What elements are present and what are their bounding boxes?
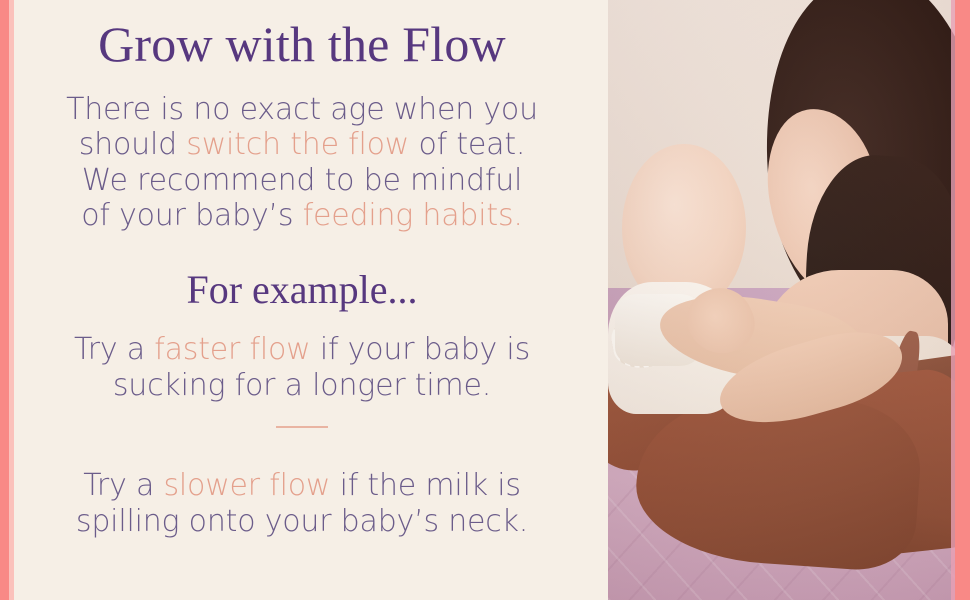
photo-panel <box>608 0 970 600</box>
page-title: Grow with the Flow <box>26 0 578 72</box>
left-edge-bar <box>0 0 9 600</box>
example-paragraph-slower: Try a slower flow if the milk is spillin… <box>26 468 578 540</box>
example-accent-slower-flow: slower flow <box>163 468 330 503</box>
intro-accent-switch-the-flow: switch the flow <box>186 127 409 162</box>
example-paragraph-faster: Try a faster flow if your baby is suckin… <box>26 332 578 404</box>
intro-line-3-text: We recommend to be mindful <box>82 163 522 198</box>
left-edge-bar-soft <box>9 0 14 600</box>
subheading-for-example: For example... <box>26 234 578 312</box>
right-edge-bar <box>955 0 970 600</box>
copy-panel: Grow with the Flow There is no exact age… <box>0 0 608 600</box>
divider-wrap <box>26 404 578 448</box>
intro-line-1-text: There is no exact age when you <box>66 92 538 127</box>
example-slower-line-2: spilling onto your baby’s neck. <box>26 504 578 540</box>
section-divider <box>276 426 328 428</box>
example-slower-line-2-text: spilling onto your baby’s neck. <box>76 504 528 539</box>
example-faster-line-2: sucking for a longer time. <box>26 368 578 404</box>
intro-line-2-text-b: of teat. <box>409 127 525 162</box>
intro-line-1: There is no exact age when you <box>26 92 578 127</box>
example-faster-text-b: if your baby is <box>311 332 531 367</box>
photo-soft-light-overlay <box>608 0 970 600</box>
example-faster-text-a: Try a <box>74 332 154 367</box>
mother-and-baby-photo <box>608 0 970 600</box>
intro-line-2-text-a: should <box>79 127 187 162</box>
promo-banner: Grow with the Flow There is no exact age… <box>0 0 970 600</box>
example-faster-line-1: Try a faster flow if your baby is <box>26 332 578 368</box>
example-slower-line-1: Try a slower flow if the milk is <box>26 468 578 504</box>
example-slower-text-a: Try a <box>83 468 163 503</box>
example-accent-faster-flow: faster flow <box>154 332 310 367</box>
intro-line-2: should switch the flow of teat. <box>26 127 578 162</box>
intro-line-3: We recommend to be mindful <box>26 163 578 198</box>
intro-paragraph: There is no exact age when you should sw… <box>26 92 578 234</box>
intro-line-4: of your baby’s feeding habits. <box>26 198 578 233</box>
intro-accent-feeding-habits: feeding habits. <box>303 198 523 233</box>
example-faster-line-2-text: sucking for a longer time. <box>113 368 491 403</box>
intro-line-4-text-a: of your baby’s <box>81 198 302 233</box>
example-slower-text-b: if the milk is <box>330 468 521 503</box>
